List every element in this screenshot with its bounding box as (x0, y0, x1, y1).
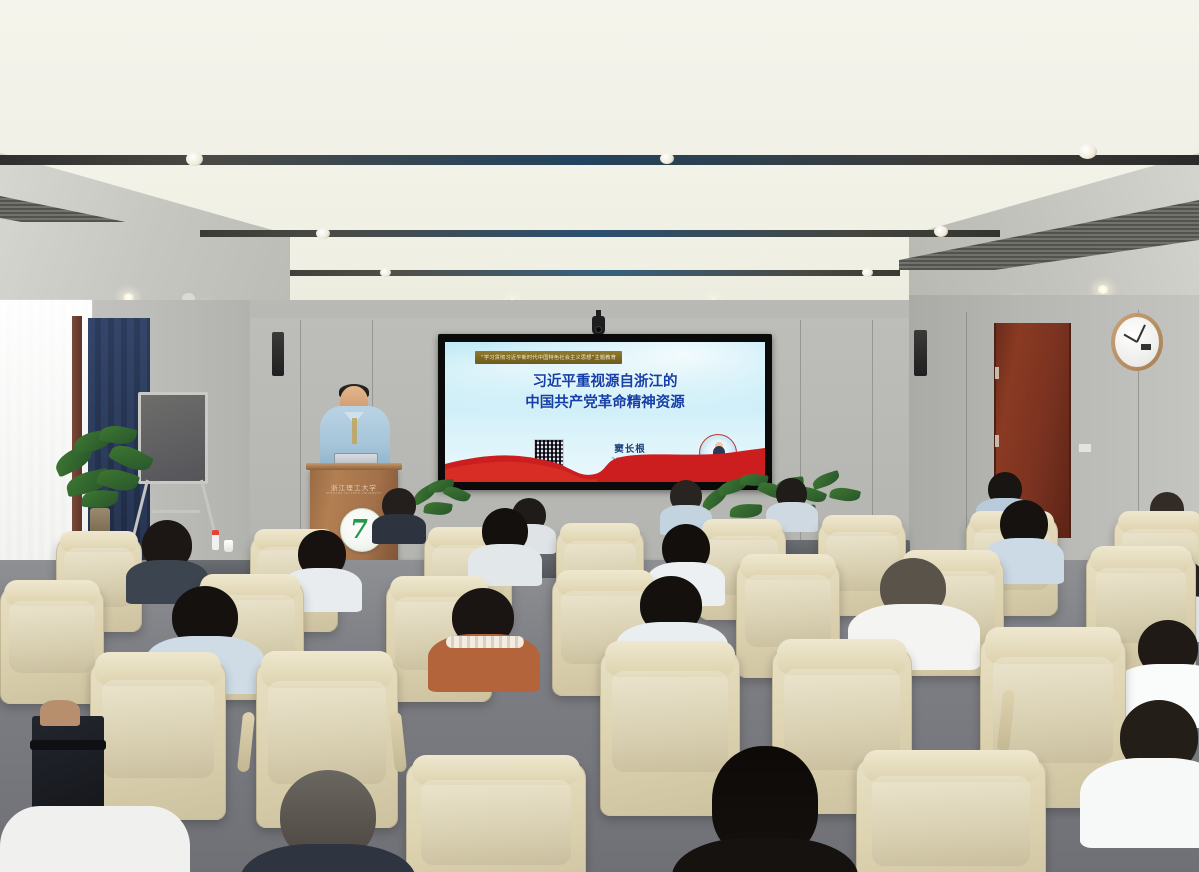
wall-clock (1111, 313, 1163, 371)
light-switch-panel[interactable] (1078, 443, 1092, 453)
wall-speaker (272, 332, 284, 376)
necklace (446, 636, 524, 648)
bag-strap (30, 740, 106, 750)
slide-title-line1: 习近平重视源自浙江的 (445, 372, 765, 393)
slide-canvas: “学习贯彻习近平新时代中国特色社会主义思想”主题教育 习近平重视源自浙江的 中国… (445, 342, 765, 482)
hand (40, 700, 80, 726)
conference-chair[interactable] (90, 660, 226, 820)
conference-chair[interactable] (406, 762, 586, 872)
messenger-bag (32, 716, 104, 812)
water-bottle (212, 530, 219, 550)
conference-chair[interactable] (856, 758, 1046, 872)
slide-theme-banner: “学习贯彻习近平新时代中国特色社会主义思想”主题教育 (475, 351, 622, 364)
track-downlight-icon (316, 228, 330, 239)
conference-room-photo: “学习贯彻习近平新时代中国特色社会主义思想”主题教育 习近平重视源自浙江的 中国… (0, 0, 1199, 872)
clock-minute-hand (1136, 324, 1145, 342)
audience-person-foreground-shoulder (0, 806, 190, 872)
panel-seam (300, 320, 301, 560)
whiteboard-crossbar (152, 510, 200, 513)
track-downlight-icon (660, 153, 674, 164)
slide-title: 习近平重视源自浙江的 中国共产党革命精神资源 (445, 372, 765, 414)
potted-plant-left (48, 420, 158, 540)
clock-face (1115, 317, 1159, 367)
track-downlight-icon (380, 268, 391, 277)
ceiling-light-strip-1 (0, 155, 1199, 165)
track-downlight-icon (1078, 144, 1097, 159)
recessed-downlight-icon (1096, 285, 1110, 294)
ceiling-video-camera-icon (592, 316, 605, 335)
conference-chair[interactable] (0, 586, 104, 704)
paper-cup (224, 540, 233, 552)
track-downlight-icon (862, 268, 873, 277)
clock-date-window (1141, 344, 1151, 350)
presenter-lanyard (352, 418, 357, 444)
slide-title-line2: 中国共产党革命精神资源 (445, 393, 765, 414)
slide-banner-text: “学习贯彻习近平新时代中国特色社会主义思想”主题教育 (481, 354, 616, 361)
track-downlight-icon (934, 226, 948, 237)
presentation-display[interactable]: “学习贯彻习近平新时代中国特色社会主义思想”主题教育 习近平重视源自浙江的 中国… (438, 334, 772, 490)
wall-speaker (914, 330, 927, 376)
track-downlight-icon (186, 152, 203, 166)
green-logo-glyph: 7 (348, 517, 370, 543)
